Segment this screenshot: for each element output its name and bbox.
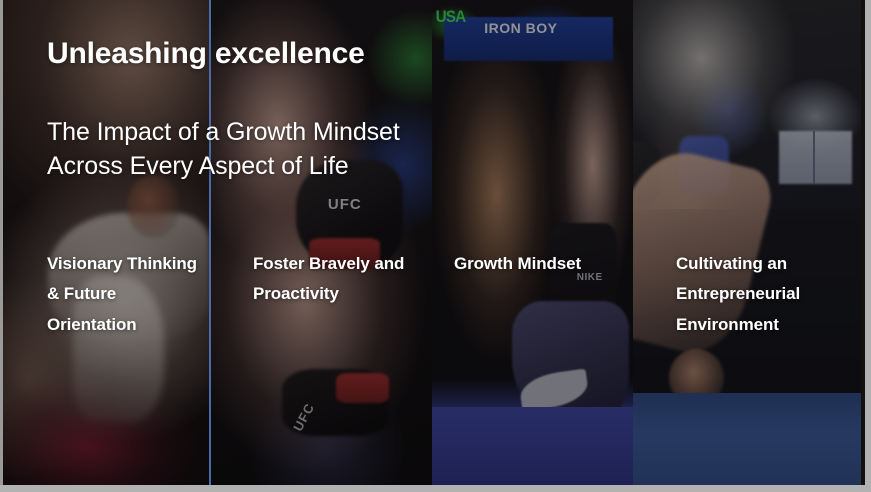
panel-scrim: [633, 0, 861, 485]
panel-caption-entrepreneurial-environment: Cultivating an Entrepreneurial Environme…: [676, 249, 861, 340]
panel-caption-growth-mindset: Growth Mindset: [454, 249, 634, 279]
panel-scrim: [432, 0, 633, 485]
panel-caption-visionary-thinking: Visionary Thinking & Future Orientation: [47, 249, 207, 340]
right-gutter: [865, 0, 871, 492]
slide-subtitle: The Impact of a Growth Mindset Across Ev…: [47, 116, 427, 183]
slide-title: Unleashing excellence: [47, 37, 365, 70]
panel-scrim: [211, 0, 434, 485]
image-panel-foster-bravely[interactable]: UFC UFC: [209, 0, 434, 485]
slide-frame: UFC UFC IRON BOY USA NIKE: [0, 0, 871, 492]
bottom-gutter: [0, 485, 871, 492]
panel-caption-foster-bravely: Foster Bravely and Proactivity: [253, 249, 423, 310]
image-panel-growth-mindset[interactable]: IRON BOY USA NIKE: [432, 0, 633, 485]
image-panel-group: UFC UFC IRON BOY USA NIKE: [3, 0, 865, 485]
image-panel-entrepreneurial-environment[interactable]: [633, 0, 861, 485]
panel-scrim: [3, 0, 209, 485]
image-panel-visionary-thinking[interactable]: [3, 0, 209, 485]
slide-canvas: UFC UFC IRON BOY USA NIKE: [3, 0, 869, 485]
